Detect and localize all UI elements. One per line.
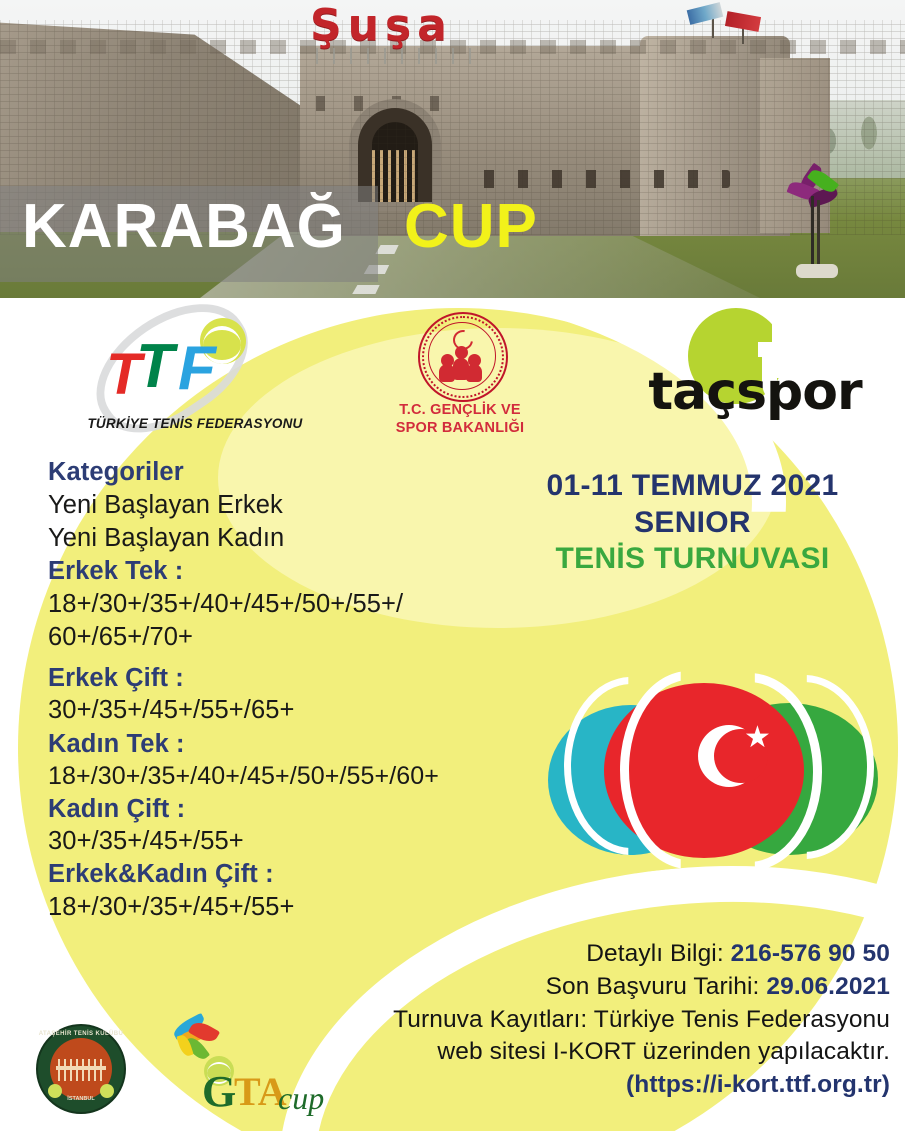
ministry-logo: T.C. GENÇLİK VE SPOR BAKANLIĞI: [370, 312, 550, 438]
tacspor-wordmark: taçspor: [640, 366, 870, 418]
ministry-figures-icon: [440, 330, 482, 382]
tacspor-t-horizontal: [758, 342, 802, 357]
poster-title-main: KARABAĞ: [22, 196, 346, 258]
gtacup-logo: G TA cup: [160, 1016, 340, 1120]
category-group-values-2: 18+/30+/35+/40+/45+/50+/55+/60+: [48, 760, 518, 793]
category-group-label-0: Erkek Tek :: [48, 555, 518, 588]
category-group-values-0b: 60+/65+/70+: [48, 621, 518, 654]
categories-block: Kategoriler Yeni Başlayan Erkek Yeni Baş…: [48, 456, 518, 924]
category-group-values-1: 30+/35+/45+/55+/65+: [48, 694, 518, 727]
registration-line-1: Turnuva Kayıtları: Türkiye Tenis Federas…: [330, 1004, 890, 1037]
event-type: TENİS TURNUVASI: [500, 541, 885, 578]
ministry-caption-line2: SPOR BAKANLIĞI: [396, 420, 524, 436]
ttf-logo: T T F TÜRKİYE TENİS FEDERASYONU: [80, 312, 310, 440]
atk-bridge-deck: [56, 1066, 106, 1070]
sponsor-logo-row: T T F TÜRKİYE TENİS FEDERASYONU: [0, 304, 905, 440]
category-item-0: Yeni Başlayan Erkek: [48, 489, 518, 522]
category-group-label-2: Kadın Tek :: [48, 728, 518, 761]
contact-deadline-value: 29.06.2021: [766, 973, 890, 1000]
ministry-caption-line1: T.C. GENÇLİK VE: [399, 402, 520, 418]
pinwheel-base: [796, 264, 838, 278]
category-item-1: Yeni Başlayan Kadın: [48, 522, 518, 555]
susa-sign-text: Şuşa: [310, 4, 453, 48]
category-group-values-0a: 18+/30+/35+/40+/45+/50+/55+/: [48, 588, 518, 621]
registration-line-2: web sitesi I-KORT üzerinden yapılacaktır…: [330, 1036, 890, 1069]
pinwheel-stem-2: [817, 200, 820, 268]
atk-bottom-text: İSTANBUL: [38, 1096, 124, 1102]
contact-block: Detaylı Bilgi: 216-576 90 50 Son Başvuru…: [330, 938, 890, 1102]
figure-body-right: [466, 364, 482, 382]
atk-top-text: ATAŞEHİR TENİS KULÜBÜ: [38, 1031, 124, 1037]
ministry-caption: T.C. GENÇLİK VE SPOR BAKANLIĞI: [370, 402, 550, 437]
ttf-letter-t2: T: [136, 336, 174, 398]
contact-deadline-label: Son Başvuru Tarihi:: [546, 973, 767, 1000]
hero-photo: Şuşa KARABAĞ CUP: [0, 0, 905, 298]
poster-root: Şuşa KARABAĞ CUP T T: [0, 0, 905, 1131]
tennis-balls-illustration: ★: [548, 683, 878, 898]
category-group-label-4: Erkek&Kadın Çift :: [48, 858, 518, 891]
spacer-0: [48, 654, 518, 662]
pinwheel-sculpture: [778, 170, 848, 290]
poster-body: T T F TÜRKİYE TENİS FEDERASYONU: [0, 298, 905, 1131]
figure-body-left: [439, 364, 455, 382]
susa-sign-supports: [316, 48, 486, 64]
event-info-block: 01-11 TEMMUZ 2021 SENIOR TENİS TURNUVASI: [500, 468, 885, 578]
contact-phone-label: Detaylı Bilgi:: [586, 940, 730, 967]
registration-url[interactable]: (https://i-kort.ttf.org.tr): [330, 1069, 890, 1102]
category-group-label-3: Kadın Çift :: [48, 793, 518, 826]
tacspor-logo: taçspor: [640, 308, 870, 438]
pinwheel-stem: [811, 196, 814, 268]
gta-letter-g: G: [202, 1070, 236, 1114]
contact-deadline-line: Son Başvuru Tarihi: 29.06.2021: [330, 971, 890, 1004]
categories-heading: Kategoriler: [48, 456, 518, 489]
ttf-caption: TÜRKİYE TENİS FEDERASYONU: [80, 416, 310, 431]
category-group-values-4: 18+/30+/35+/45+/55+: [48, 891, 518, 924]
category-group-label-1: Erkek Çift :: [48, 662, 518, 695]
ttf-letter-f: F: [178, 338, 216, 400]
contact-phone-value: 216-576 90 50: [731, 940, 890, 967]
category-group-values-3: 30+/35+/45+/55+: [48, 825, 518, 858]
contact-phone-line: Detaylı Bilgi: 216-576 90 50: [330, 938, 890, 971]
event-dates: 01-11 TEMMUZ 2021: [500, 468, 885, 505]
gta-word-cup: cup: [278, 1082, 324, 1114]
atk-bridge-icon: [58, 1059, 104, 1081]
atasehir-tenis-kulubu-logo: ATAŞEHİR TENİS KULÜBÜ İSTANBUL: [36, 1024, 126, 1114]
event-level: SENIOR: [500, 505, 885, 542]
poster-title-accent: CUP: [404, 196, 538, 258]
